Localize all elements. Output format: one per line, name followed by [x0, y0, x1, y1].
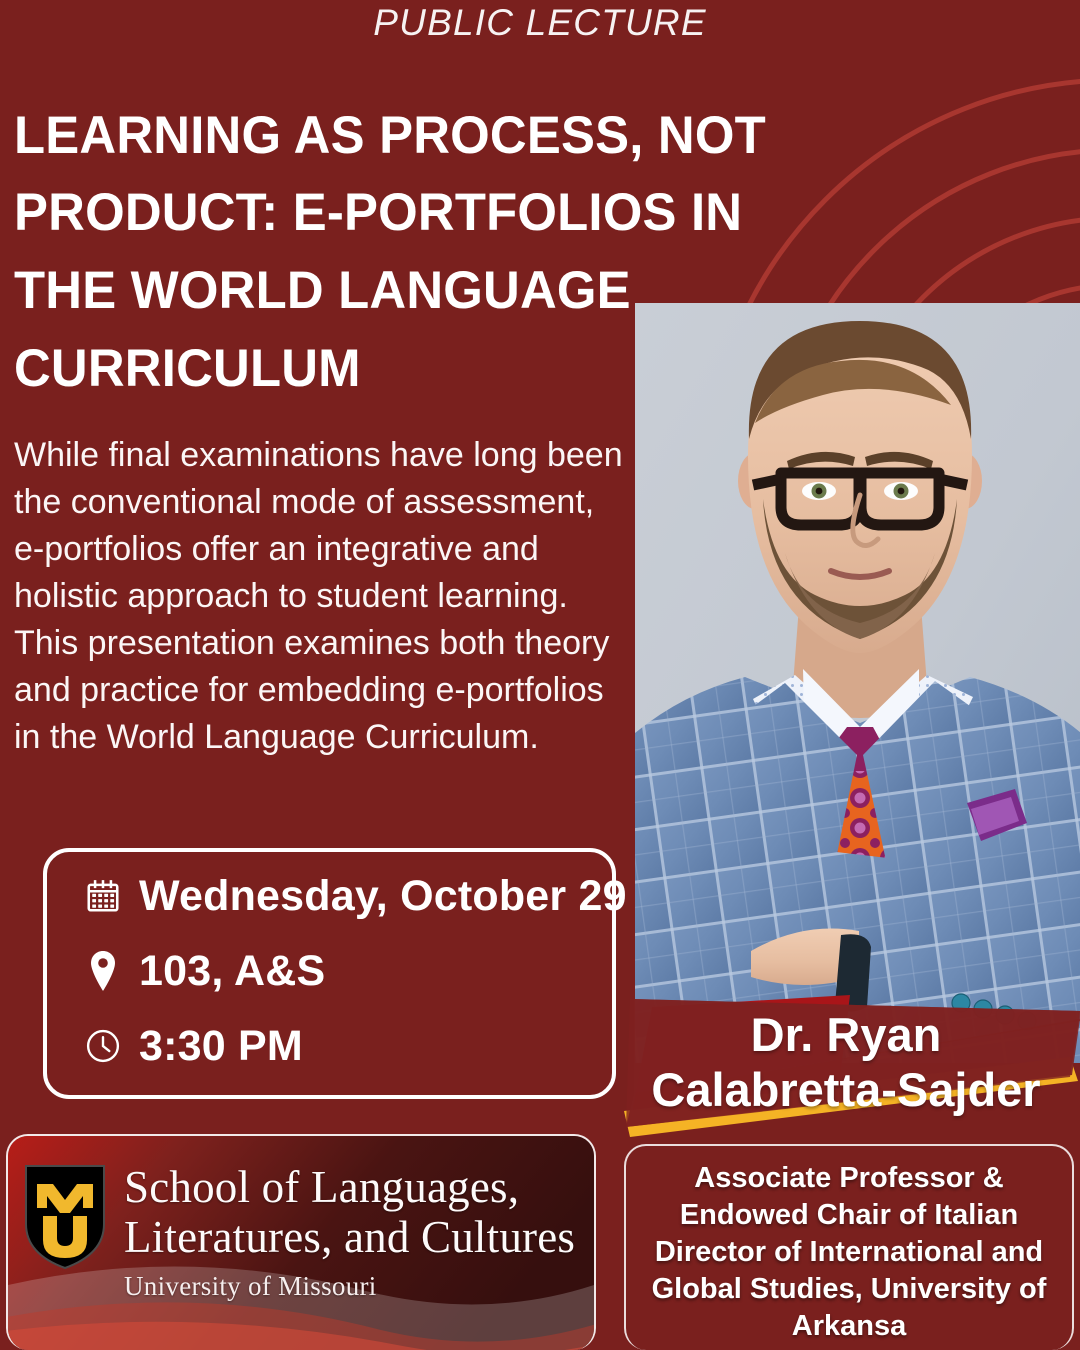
detail-value-date: Wednesday, October 29 — [139, 872, 627, 921]
detail-row-time: 3:30 PM — [67, 1015, 612, 1077]
location-pin-icon — [67, 951, 139, 991]
event-details-card: Wednesday, October 29 103, A&S 3:30 PM — [43, 848, 616, 1099]
calendar-icon — [67, 877, 139, 915]
mu-shield-icon — [22, 1162, 108, 1272]
speaker-name: Dr. Ryan Calabretta-Sajder — [612, 1000, 1080, 1125]
speaker-photo — [635, 303, 1080, 1063]
abstract-text: While final examinations have long been … — [14, 432, 629, 762]
logo-line-1: School of Languages, — [124, 1162, 575, 1212]
speaker-name-line2: Calabretta-Sajder — [651, 1063, 1040, 1117]
logo-line-3: University of Missouri — [124, 1271, 575, 1302]
detail-value-location: 103, A&S — [139, 947, 325, 996]
lecture-poster: PUBLIC LECTURE LEARNING AS PROCESS, NOT … — [0, 0, 1080, 1350]
detail-row-location: 103, A&S — [67, 940, 612, 1002]
speaker-name-line1: Dr. Ryan — [751, 1008, 942, 1062]
department-logo-box: School of Languages, Literatures, and Cu… — [6, 1134, 596, 1350]
speaker-credentials: Associate Professor & Endowed Chair of I… — [624, 1144, 1074, 1350]
logo-text-block: School of Languages, Literatures, and Cu… — [124, 1162, 575, 1302]
speaker-credentials-text: Associate Professor & Endowed Chair of I… — [636, 1160, 1062, 1346]
logo-line-2: Literatures, and Cultures — [124, 1212, 575, 1262]
detail-row-date: Wednesday, October 29 — [67, 865, 612, 927]
detail-value-time: 3:30 PM — [139, 1022, 303, 1071]
clock-icon — [67, 1027, 139, 1065]
eyebrow-label: PUBLIC LECTURE — [0, 2, 1080, 44]
